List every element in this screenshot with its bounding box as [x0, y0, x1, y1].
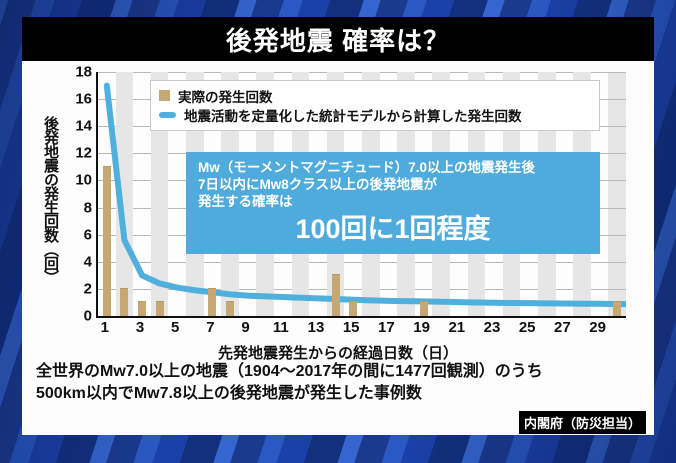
chart-bar: [156, 301, 164, 316]
x-tick-label: 29: [589, 320, 606, 335]
x-tick-label: 25: [519, 320, 536, 335]
x-tick-label: 1: [101, 320, 109, 335]
x-axis-label: 先発地震発生からの経過日数（日）: [22, 342, 654, 363]
chart-bar: [420, 301, 428, 316]
title-banner: 後発地震 確率は？: [22, 17, 654, 61]
probability-callout: Mw（モーメントマグニチュード）7.0以上の地震発生後 7日以内にMw8クラス以…: [186, 152, 600, 254]
legend-item-actual: 実際の発生回数: [159, 86, 591, 105]
chart-bar: [332, 274, 340, 316]
callout-line-2: 7日以内にMw8クラス以上の後発地震が: [198, 177, 588, 194]
footnote-line-2: 500km以内でMw7.8以上の後発地震が発生した事例数: [36, 383, 640, 405]
y-tick-label: 4: [84, 254, 92, 269]
x-tick-label: 23: [484, 320, 501, 335]
x-tick-label: 13: [308, 320, 325, 335]
y-axis-label: 後発地震の発生回数（回）: [32, 75, 58, 325]
chart-bar: [208, 288, 216, 316]
source-badge: 内閣府（防災担当）: [519, 411, 646, 434]
x-tick-label: 7: [206, 320, 214, 335]
y-tick-label: 12: [75, 146, 92, 161]
chart-bar: [138, 301, 146, 316]
y-tick-label: 0: [84, 309, 92, 324]
graphic-stage: 後発地震 確率は？ 後発地震の発生回数（回） 024681012141618 1…: [0, 0, 676, 463]
x-tick-label: 15: [343, 320, 360, 335]
chart-bar: [349, 301, 357, 316]
legend-label-model: 地震活動を定量化した統計モデルから計算した発生回数: [184, 105, 522, 125]
footnote-line-1: 全世界のMw7.0以上の地震（1904〜2017年の間に1477回観測）のうち: [36, 361, 640, 383]
callout-highlight: 100回に1回程度: [198, 215, 588, 245]
x-axis-ticks: 1357911131517192123252729: [96, 320, 624, 342]
x-tick-label: 9: [241, 320, 249, 335]
chart-legend: 実際の発生回数 地震活動を定量化した統計モデルから計算した発生回数: [150, 80, 600, 131]
x-tick-label: 5: [171, 320, 179, 335]
callout-line-3: 発生する確率は: [198, 194, 588, 211]
x-tick-label: 21: [448, 320, 465, 335]
y-axis-ticks: 024681012141618: [62, 72, 92, 316]
y-tick-label: 18: [75, 65, 92, 80]
content-panel: 後発地震の発生回数（回） 024681012141618 13579111315…: [22, 61, 654, 435]
chart-bar: [120, 288, 128, 316]
y-tick-label: 2: [84, 281, 92, 296]
x-tick-label: 19: [413, 320, 430, 335]
chart-bar: [613, 301, 621, 316]
bar-swatch-icon: [159, 90, 170, 101]
chart-container: 後発地震の発生回数（回） 024681012141618 13579111315…: [22, 61, 654, 351]
legend-label-actual: 実際の発生回数: [178, 86, 273, 106]
x-tick-label: 27: [554, 320, 571, 335]
chart-bar: [103, 166, 111, 316]
y-tick-label: 14: [75, 119, 92, 134]
chart-bar: [226, 301, 234, 316]
x-tick-label: 17: [378, 320, 395, 335]
page-title: 後発地震 確率は？: [226, 21, 450, 58]
callout-line-1: Mw（モーメントマグニチュード）7.0以上の地震発生後: [198, 160, 588, 177]
footnote: 全世界のMw7.0以上の地震（1904〜2017年の間に1477回観測）のうち …: [36, 361, 640, 404]
y-tick-label: 10: [75, 173, 92, 188]
line-swatch-icon: [159, 112, 176, 118]
y-tick-label: 8: [84, 200, 92, 215]
y-tick-label: 6: [84, 227, 92, 242]
legend-item-model: 地震活動を定量化した統計モデルから計算した発生回数: [159, 105, 591, 124]
y-tick-label: 16: [75, 92, 92, 107]
x-tick-label: 3: [136, 320, 144, 335]
x-tick-label: 11: [273, 320, 289, 335]
